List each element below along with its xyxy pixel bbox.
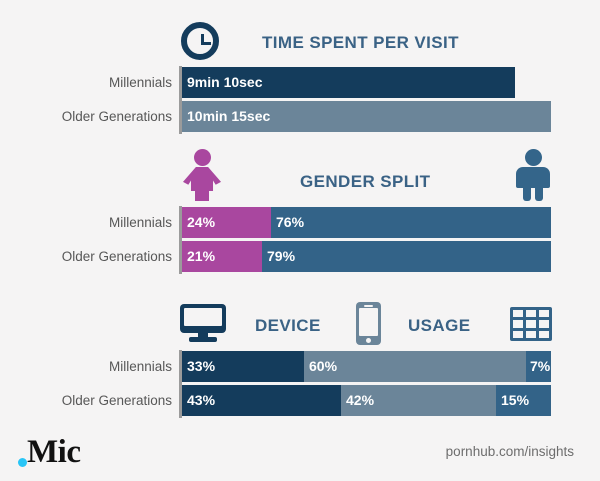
row-label-older-generations: Older Generations (0, 385, 172, 416)
source-url[interactable]: pornhub.com/insights (446, 444, 574, 459)
row-label-millennials: Millennials (0, 67, 172, 98)
segment-tablet-millennials: 7% (526, 351, 551, 382)
bar-value-millennials: 9min 10sec (182, 67, 515, 98)
section-time-spent: TIME SPENT PER VISIT Millennials 9min 10… (0, 16, 600, 72)
row-label-older-generations: Older Generations (0, 241, 172, 272)
device-bar-older: 43% 42% 15% (182, 385, 551, 416)
logo-dot-icon (18, 458, 27, 467)
device-bar-millennials: 33% 60% 7% (182, 351, 551, 382)
section-gender-split: GENDER SPLIT Millennials 24% 76% Older G… (0, 148, 600, 204)
time-bar-older: 10min 15sec (182, 101, 554, 132)
row-label-older-generations: Older Generations (0, 101, 172, 132)
segment-female-older: 21% (182, 241, 262, 272)
gender-bar-millennials: 24% 76% (182, 207, 551, 238)
device-section-header: DEVICE USAGE (0, 298, 600, 350)
time-section-title: TIME SPENT PER VISIT (262, 33, 459, 53)
desktop-monitor-icon (180, 304, 226, 344)
time-bar-millennials: 9min 10sec (182, 67, 554, 98)
gender-bar-older: 21% 79% (182, 241, 551, 272)
segment-phone-older: 42% (341, 385, 496, 416)
segment-male-millennials: 76% (271, 207, 551, 238)
mic-logo[interactable]: Mic (18, 436, 80, 470)
segment-desktop-millennials: 33% (182, 351, 304, 382)
device-section-title-left: DEVICE (255, 316, 321, 336)
mobile-phone-icon (356, 302, 381, 345)
gender-section-title: GENDER SPLIT (300, 172, 430, 192)
clock-icon (181, 22, 219, 60)
logo-wordmark: Mic (27, 436, 80, 469)
segment-tablet-older: 15% (496, 385, 551, 416)
device-section-title-right: USAGE (408, 316, 470, 336)
segment-desktop-older: 43% (182, 385, 341, 416)
footer: Mic pornhub.com/insights (0, 432, 600, 481)
row-label-millennials: Millennials (0, 207, 172, 238)
segment-male-older: 79% (262, 241, 551, 272)
infographic-root: TIME SPENT PER VISIT Millennials 9min 10… (0, 0, 600, 481)
bar-value-older: 10min 15sec (182, 101, 551, 132)
male-icon (511, 149, 555, 201)
tablet-grid-icon (510, 307, 552, 341)
row-label-millennials: Millennials (0, 351, 172, 382)
segment-female-millennials: 24% (182, 207, 271, 238)
gender-section-header: GENDER SPLIT (0, 148, 600, 204)
time-section-header: TIME SPENT PER VISIT (0, 16, 600, 72)
segment-phone-millennials: 60% (304, 351, 526, 382)
section-device-usage: DEVICE USAGE Millennials 33% 60% 7% (0, 298, 600, 350)
female-icon (180, 149, 224, 201)
